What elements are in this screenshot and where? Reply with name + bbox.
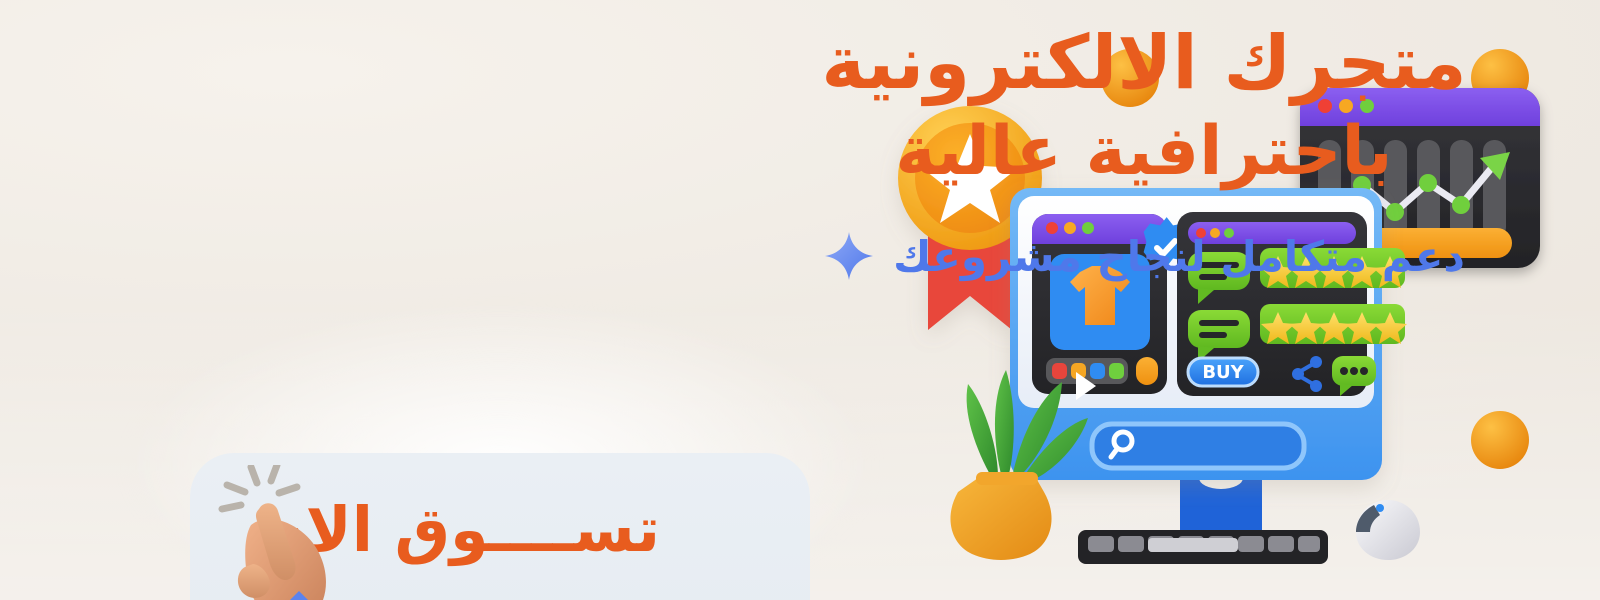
- swatch-green[interactable]: [1109, 363, 1124, 379]
- plant-pot: [950, 478, 1051, 560]
- keyboard-icon[interactable]: [1078, 530, 1328, 564]
- headline-line-1: متجرك الالكترونية: [821, 20, 1466, 106]
- rating-bar: [1260, 304, 1407, 344]
- frame-node-icon: [1471, 411, 1529, 469]
- click-rays-icon: [222, 465, 297, 509]
- buy-button-label: BUY: [1202, 362, 1244, 383]
- swatch-blue[interactable]: [1090, 363, 1105, 379]
- subtitle-text: دعم متكامل لنجاح مشروعك: [893, 232, 1465, 281]
- computer-mouse-icon[interactable]: [1356, 500, 1420, 560]
- buy-button[interactable]: BUY: [1188, 358, 1258, 386]
- promo-banner: متجرك الالكترونية باحترافية عالية دعم مت…: [0, 0, 1600, 600]
- headline-line-2: باحترافية عالية: [744, 110, 1544, 194]
- product-action-button[interactable]: [1136, 357, 1158, 385]
- page-title: متجرك الالكترونية باحترافية عالية: [744, 18, 1544, 194]
- shop-now-button[interactable]: تســــوق الان: [190, 453, 810, 600]
- swatch-red[interactable]: [1052, 363, 1067, 379]
- pointing-hand-icon: [215, 465, 375, 600]
- sparkle-icon: [823, 230, 875, 282]
- copy-block: متجرك الالكترونية باحترافية عالية دعم مت…: [744, 18, 1544, 282]
- subtitle: دعم متكامل لنجاح مشروعك: [744, 230, 1544, 282]
